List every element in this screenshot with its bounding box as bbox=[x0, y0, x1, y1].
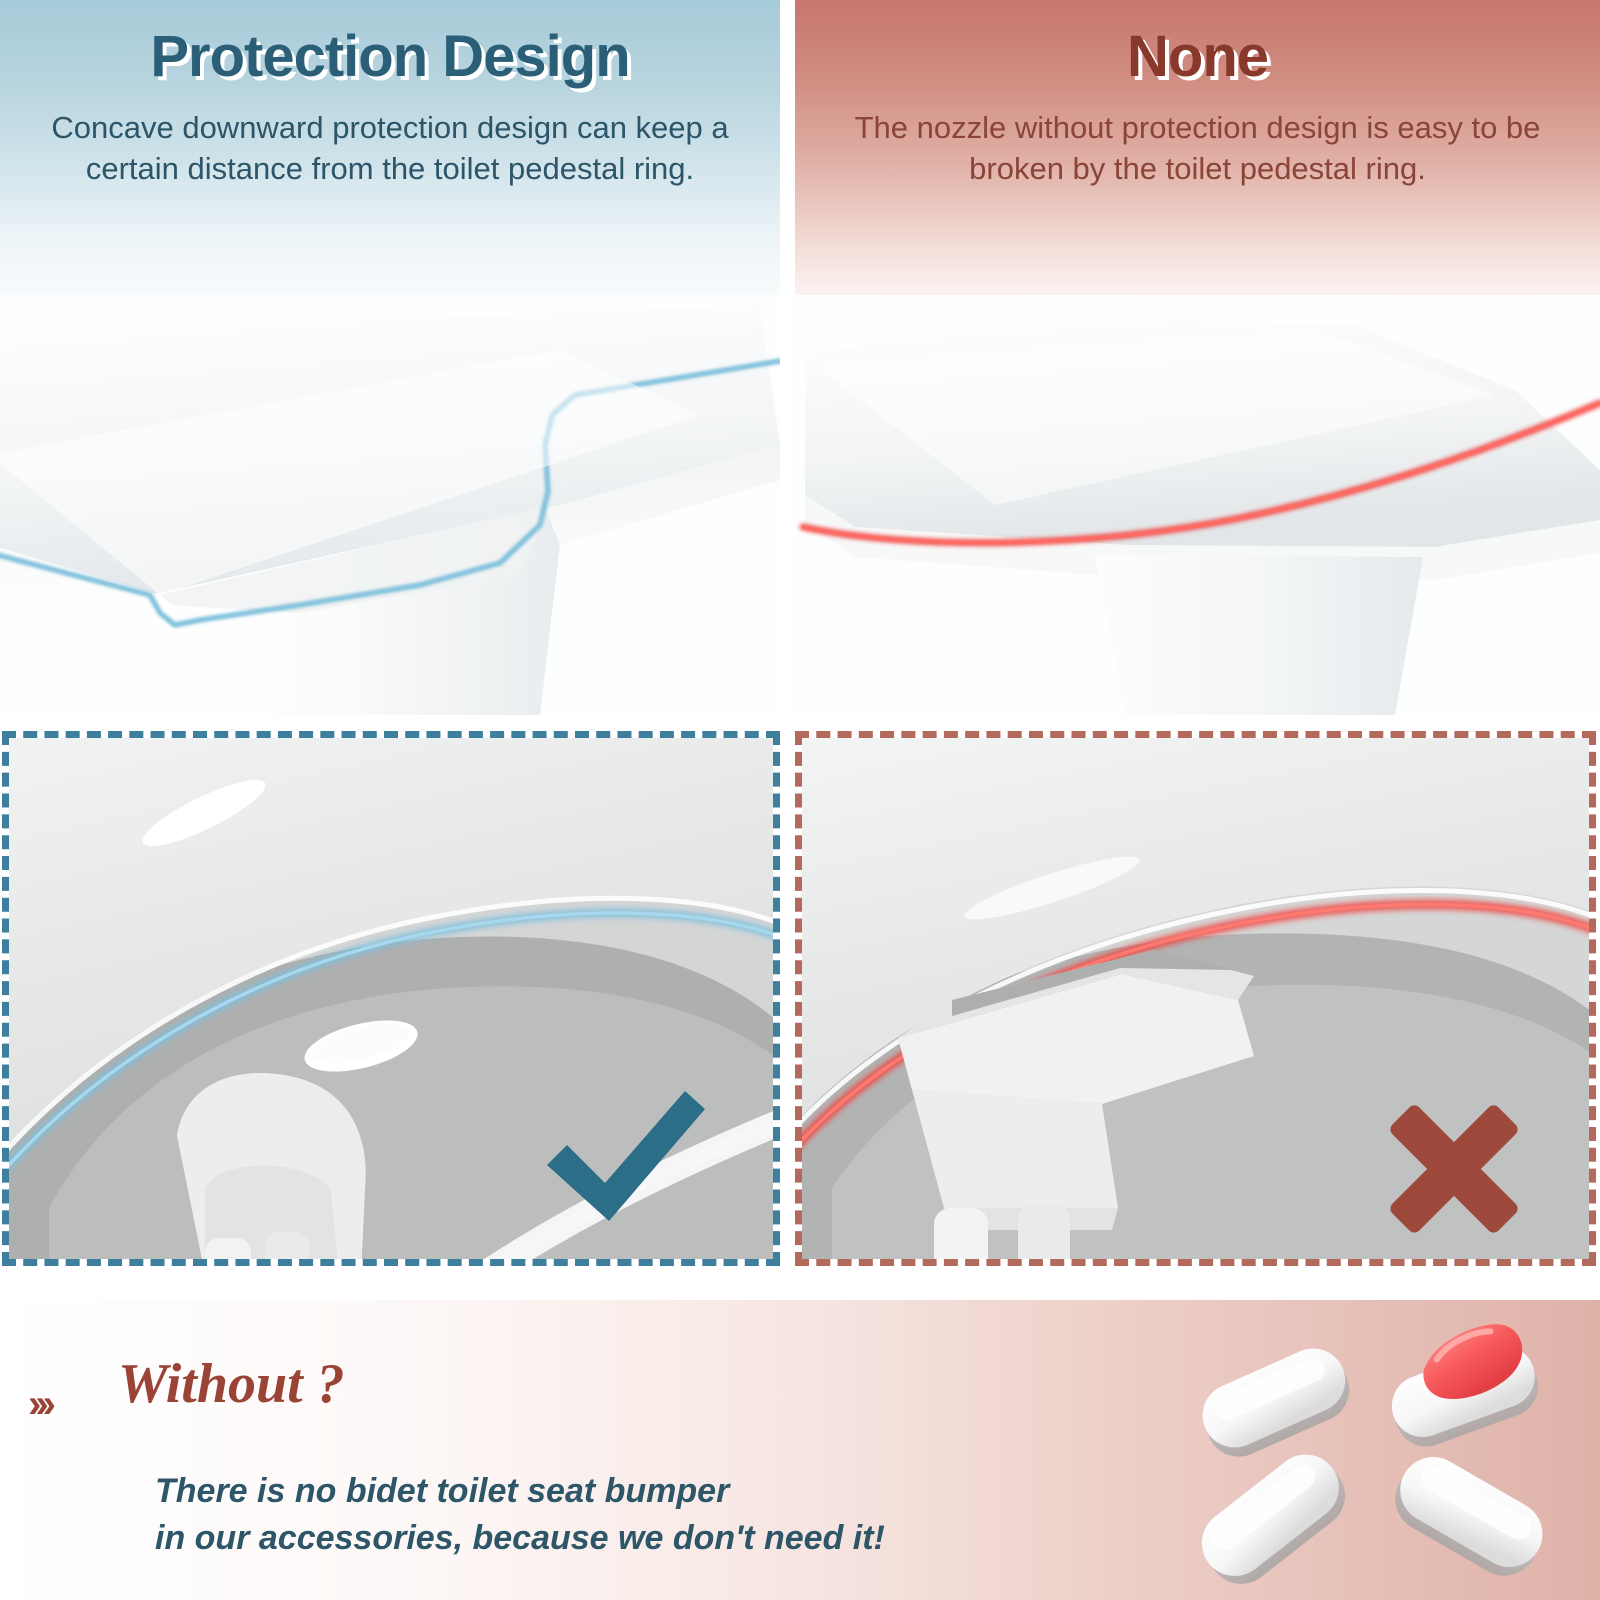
left-seat-edge-photo bbox=[0, 295, 780, 715]
left-panel-subtitle: Concave downward protection design can k… bbox=[18, 107, 762, 189]
right-panel-title: None bbox=[1127, 26, 1268, 89]
bottom-body-line-2: in our accessories, because we don't nee… bbox=[155, 1515, 885, 1562]
bottom-body-line-1: There is no bidet toilet seat bumper bbox=[155, 1468, 885, 1515]
right-seat-edge-photo bbox=[795, 295, 1600, 715]
bumper-pad bbox=[1383, 1445, 1554, 1588]
bottom-heading: Without ? bbox=[118, 1352, 345, 1416]
cross-icon bbox=[1367, 1088, 1537, 1248]
left-closeup-frame bbox=[2, 731, 780, 1266]
seat-slab-illustration-blue bbox=[0, 295, 780, 715]
right-closeup-frame bbox=[795, 731, 1596, 1266]
bottom-body-text: There is no bidet toilet seat bumper in … bbox=[155, 1468, 885, 1562]
bumper-pad bbox=[1189, 1441, 1359, 1593]
right-header-banner: None The nozzle without protection desig… bbox=[795, 0, 1600, 295]
left-panel-title: Protection Design bbox=[150, 26, 629, 89]
bumper-pad-red bbox=[1375, 1318, 1547, 1455]
seat-slab-illustration-red bbox=[795, 295, 1600, 715]
check-icon bbox=[529, 1073, 719, 1233]
chevrons-icon: ››› bbox=[28, 1382, 50, 1427]
infographic-page: Protection Design Concave downward prote… bbox=[0, 0, 1600, 1600]
bumper-pads-illustration bbox=[1165, 1318, 1585, 1593]
right-panel-subtitle: The nozzle without protection design is … bbox=[813, 107, 1582, 189]
left-header-banner: Protection Design Concave downward prote… bbox=[0, 0, 780, 295]
bumper-pad bbox=[1192, 1338, 1359, 1467]
